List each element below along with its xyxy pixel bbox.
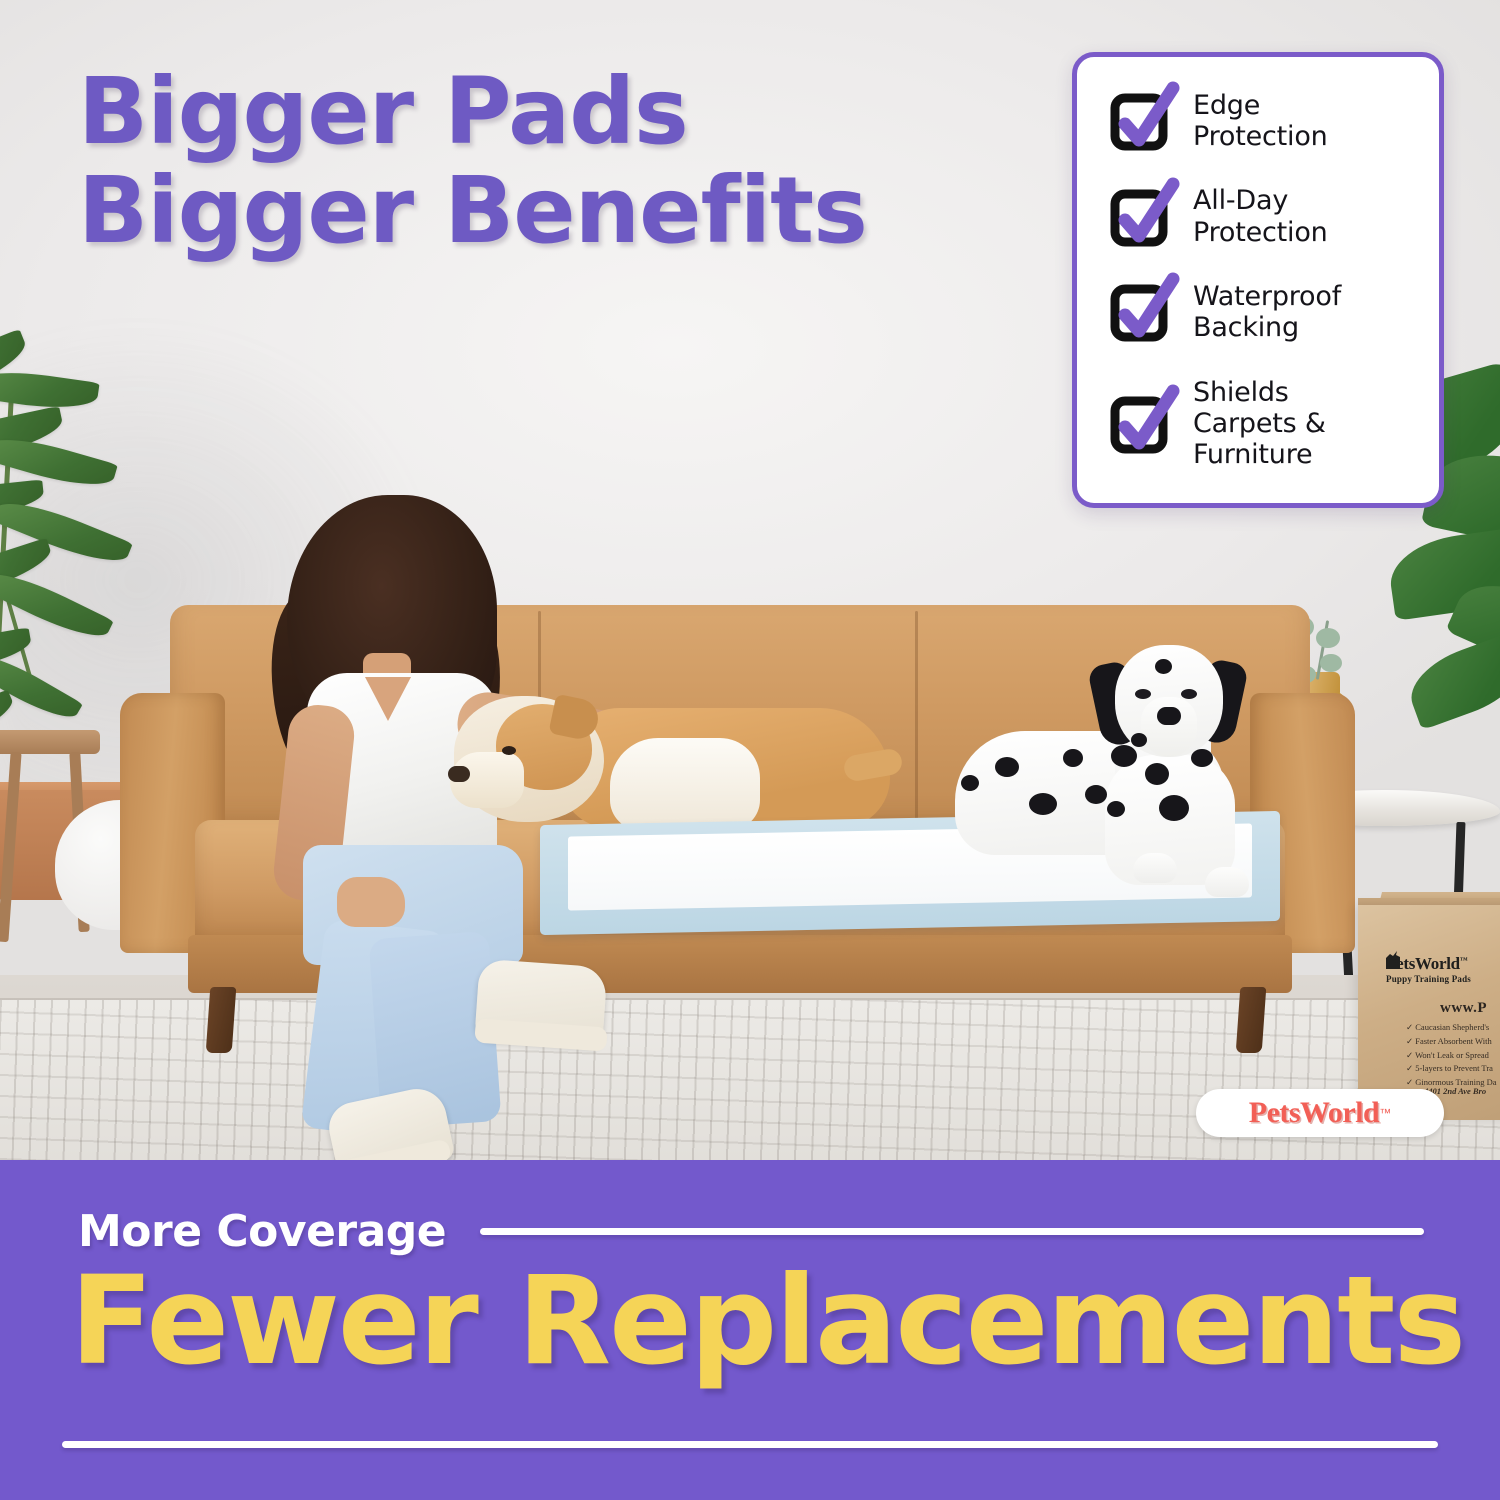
feature-label-line: Waterproof xyxy=(1193,281,1341,312)
feature-item-shields-carpets-furniture: Shields Carpets & Furniture xyxy=(1077,377,1439,471)
checkbox-checked-icon xyxy=(1109,283,1171,341)
product-marketing-image: PetsWorld™ Puppy Training Pads www.P ✓ C… xyxy=(0,0,1500,1500)
box-bullet: ✓ 5-layers to Prevent Tra xyxy=(1406,1062,1500,1076)
bottom-banner: More Coverage Fewer Replacements xyxy=(0,1160,1500,1500)
feature-item-edge-protection: Edge Protection xyxy=(1077,90,1439,153)
box-website: www.P xyxy=(1440,1000,1487,1017)
feature-label-line: Furniture xyxy=(1193,439,1312,470)
feature-item-waterproof-backing: Waterproof Backing xyxy=(1077,281,1439,344)
features-card: Edge Protection All-Day Protection xyxy=(1072,52,1444,508)
banner-big-text: Fewer Replacements xyxy=(70,1260,1450,1382)
box-brand-block: PetsWorld™ Puppy Training Pads xyxy=(1386,955,1471,984)
feature-label-line: Protection xyxy=(1193,217,1328,248)
feature-item-all-day-protection: All-Day Protection xyxy=(1077,185,1439,248)
feature-label-line: Protection xyxy=(1193,121,1328,152)
feature-label: Edge Protection xyxy=(1193,90,1328,153)
headline: Bigger Pads Bigger Benefits xyxy=(78,62,958,261)
feature-label: All-Day Protection xyxy=(1193,185,1328,248)
banner-rule-bottom xyxy=(62,1441,1438,1448)
left-side-stool xyxy=(0,730,100,754)
box-bullet: ✓ Won't Leak or Spread xyxy=(1406,1049,1500,1063)
dalmatian-dog xyxy=(955,645,1285,905)
brand-logo-name: PetsWorld xyxy=(1249,1096,1380,1130)
box-subtitle: Puppy Training Pads xyxy=(1386,974,1471,984)
brand-logo-tm: ™ xyxy=(1379,1106,1391,1120)
feature-label-line: All-Day xyxy=(1193,185,1288,216)
headline-line-1: Bigger Pads xyxy=(78,62,958,161)
box-brand-name: PetsWorld xyxy=(1386,954,1460,973)
checkbox-checked-icon xyxy=(1109,188,1171,246)
banner-rule-top xyxy=(480,1228,1424,1235)
feature-label-line: Backing xyxy=(1193,312,1299,343)
headline-line-2: Bigger Benefits xyxy=(78,161,958,260)
brand-logo: PetsWorld™ xyxy=(1196,1089,1444,1137)
feature-label: Waterproof Backing xyxy=(1193,281,1341,344)
box-bullet-list: ✓ Caucasian Shepherd's ✓ Faster Absorben… xyxy=(1406,1021,1500,1090)
checkbox-checked-icon xyxy=(1109,92,1171,150)
feature-label: Shields Carpets & Furniture xyxy=(1193,377,1326,471)
feature-label-line: Edge xyxy=(1193,90,1260,121)
box-bullet: ✓ Caucasian Shepherd's xyxy=(1406,1021,1500,1035)
box-brand-tm: ™ xyxy=(1460,955,1468,964)
feature-label-line: Shields xyxy=(1193,377,1289,408)
box-bullet: ✓ Faster Absorbent With xyxy=(1406,1035,1500,1049)
checkbox-checked-icon xyxy=(1109,395,1171,453)
feature-label-line: Carpets & xyxy=(1193,408,1326,439)
